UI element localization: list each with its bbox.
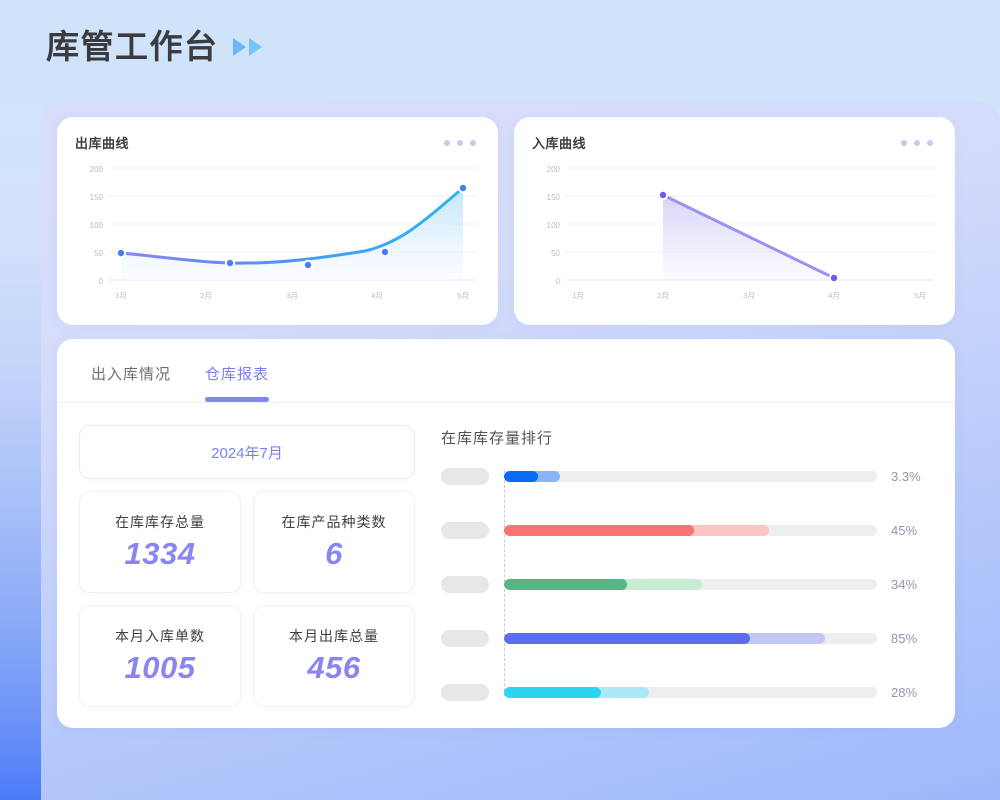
more-dots-icon[interactable] — [901, 140, 937, 146]
svg-text:3月: 3月 — [286, 291, 298, 300]
svg-text:200: 200 — [90, 165, 104, 174]
outbound-card-header: 出库曲线 — [75, 133, 480, 152]
double-chevron-right-icon — [233, 38, 262, 56]
outbound-curve-card: 出库曲线 — [57, 117, 498, 325]
stat-label: 本月出库总量 — [289, 626, 379, 646]
tab-bar: 出入库情况 仓库报表 — [57, 339, 955, 403]
svg-text:5月: 5月 — [914, 291, 926, 300]
outbound-chart-plot: 200 150 100 50 0 1月 — [75, 156, 480, 316]
inbound-chart-plot: 200 150 100 50 0 1月 2月 3月 4月 5月 — [532, 156, 937, 316]
ranking-bar-main — [504, 687, 601, 698]
tab-inout-status[interactable]: 出入库情况 — [91, 363, 171, 402]
ranking-bar-main — [504, 525, 694, 536]
inbound-card-header: 入库曲线 — [532, 133, 937, 152]
stats-column: 2024年7月 在库库存总量 1334 在库产品种类数 6 本月入库单数 100… — [79, 425, 415, 707]
page-title: 库管工作台 — [46, 30, 219, 63]
stat-label: 在库产品种类数 — [282, 512, 387, 532]
stat-card-outbound-total[interactable]: 本月出库总量 456 — [253, 605, 415, 707]
ranking-label-placeholder — [441, 522, 489, 539]
ranking-row[interactable]: 34% — [441, 574, 929, 594]
svg-text:1月: 1月 — [115, 291, 127, 300]
ranking-bar-track — [504, 525, 877, 536]
ranking-bar-track — [504, 633, 877, 644]
ranking-column: 在库库存量排行 3.3% 45% — [441, 425, 929, 707]
ranking-bar-main — [504, 633, 750, 644]
svg-text:150: 150 — [90, 193, 104, 202]
outbound-chart-title: 出库曲线 — [75, 133, 129, 152]
svg-text:100: 100 — [90, 221, 104, 230]
stat-card-product-types[interactable]: 在库产品种类数 6 — [253, 491, 415, 593]
ranking-row[interactable]: 28% — [441, 682, 929, 702]
svg-text:5月: 5月 — [457, 291, 469, 300]
stat-card-total-stock[interactable]: 在库库存总量 1334 — [79, 491, 241, 593]
stat-value: 456 — [307, 650, 360, 686]
ranking-row[interactable]: 3.3% — [441, 466, 929, 486]
svg-text:2月: 2月 — [200, 291, 212, 300]
svg-text:2月: 2月 — [657, 291, 669, 300]
svg-text:150: 150 — [547, 193, 561, 202]
ranking-label-placeholder — [441, 468, 489, 485]
ranking-label-placeholder — [441, 684, 489, 701]
svg-text:200: 200 — [547, 165, 561, 174]
stat-value: 6 — [325, 536, 343, 572]
stat-value: 1005 — [125, 650, 196, 686]
svg-text:4月: 4月 — [371, 291, 383, 300]
chevron-right-icon-2 — [249, 38, 262, 56]
ranking-row[interactable]: 85% — [441, 628, 929, 648]
svg-text:50: 50 — [94, 249, 103, 258]
page-header: 库管工作台 — [46, 30, 262, 63]
svg-text:3月: 3月 — [743, 291, 755, 300]
inbound-curve-card: 入库曲线 200 150 — [514, 117, 955, 325]
stat-grid: 在库库存总量 1334 在库产品种类数 6 本月入库单数 1005 本月出库总量… — [79, 491, 415, 707]
chart-row: 出库曲线 — [57, 117, 955, 325]
ranking-percent: 45% — [877, 523, 929, 538]
svg-text:0: 0 — [556, 277, 561, 286]
stat-value: 1334 — [125, 536, 196, 572]
report-body: 2024年7月 在库库存总量 1334 在库产品种类数 6 本月入库单数 100… — [57, 403, 955, 707]
ranking-percent: 3.3% — [877, 469, 929, 484]
ranking-bar-track — [504, 687, 877, 698]
report-panel: 出入库情况 仓库报表 2024年7月 在库库存总量 1334 在库产品种类数 6… — [57, 339, 955, 728]
svg-text:4月: 4月 — [828, 291, 840, 300]
chevron-right-icon-1 — [233, 38, 246, 56]
date-selector[interactable]: 2024年7月 — [79, 425, 415, 479]
ranking-percent: 28% — [877, 685, 929, 700]
ranking-row[interactable]: 45% — [441, 520, 929, 540]
ranking-bar-main — [504, 579, 627, 590]
ranking-bar-track — [504, 471, 877, 482]
ranking-percent: 85% — [877, 631, 929, 646]
tab-warehouse-report[interactable]: 仓库报表 — [205, 363, 269, 402]
stat-card-inbound-orders[interactable]: 本月入库单数 1005 — [79, 605, 241, 707]
ranking-title: 在库库存量排行 — [441, 427, 929, 448]
svg-text:1月: 1月 — [572, 291, 584, 300]
svg-text:100: 100 — [547, 221, 561, 230]
ranking-percent: 34% — [877, 577, 929, 592]
ranking-label-placeholder — [441, 630, 489, 647]
more-dots-icon[interactable] — [444, 140, 480, 146]
inbound-chart-title: 入库曲线 — [532, 133, 586, 152]
ranking-bar-main — [504, 471, 538, 482]
svg-text:50: 50 — [551, 249, 560, 258]
ranking-list: 3.3% 45% 34% — [441, 466, 929, 702]
ranking-label-placeholder — [441, 576, 489, 593]
ranking-bar-track — [504, 579, 877, 590]
stat-label: 在库库存总量 — [115, 512, 205, 532]
stat-label: 本月入库单数 — [115, 626, 205, 646]
svg-text:0: 0 — [99, 277, 104, 286]
